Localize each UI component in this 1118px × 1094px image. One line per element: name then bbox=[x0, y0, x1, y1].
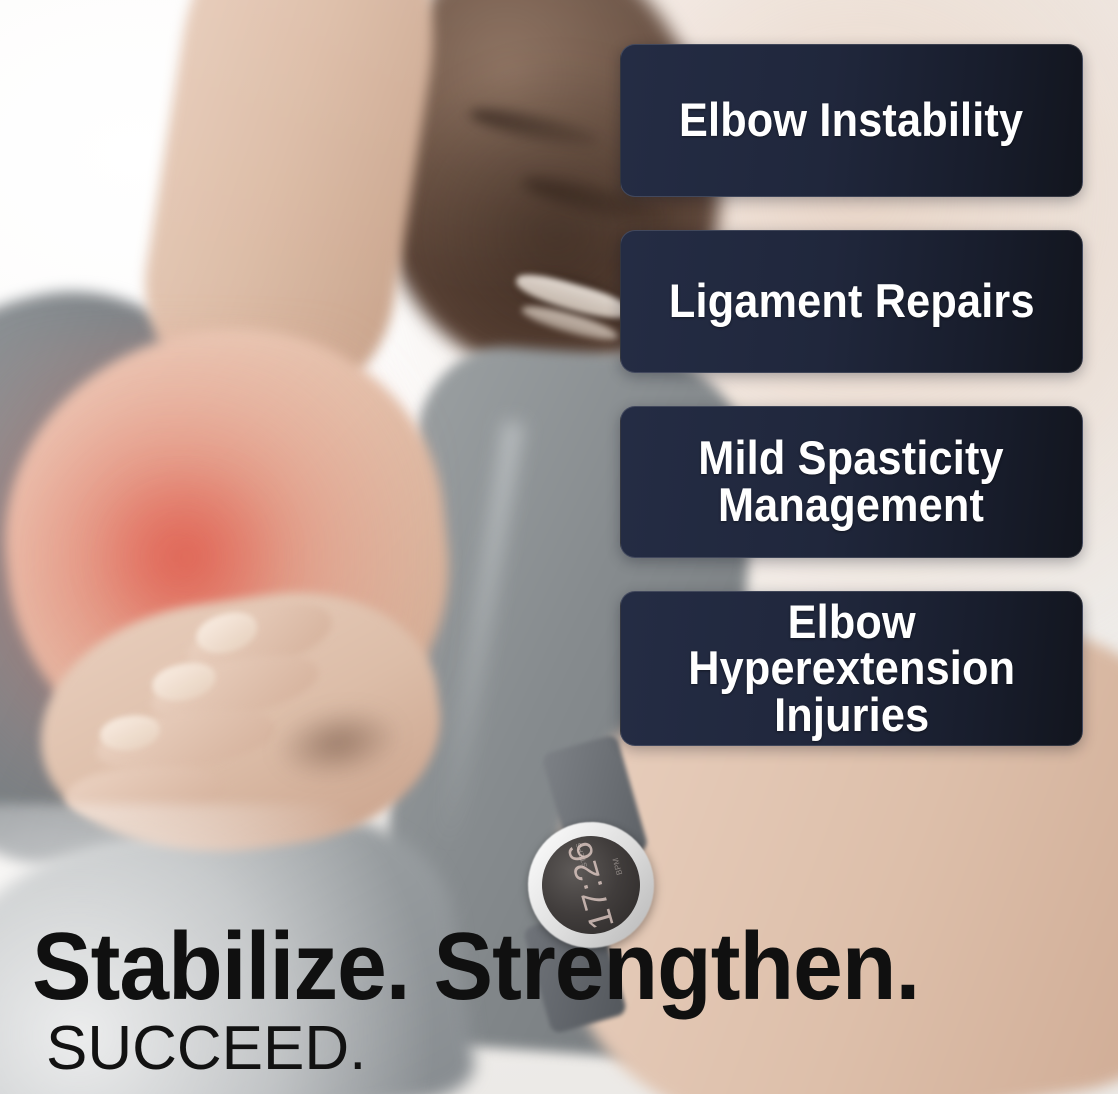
service-badge-list: Elbow Instability Ligament Repairs Mild … bbox=[620, 44, 1083, 746]
badge-label: Elbow Instability bbox=[679, 97, 1023, 144]
headline-block: Stabilize. Strengthen. SUCCEED. bbox=[32, 921, 1082, 1080]
badge-label: Ligament Repairs bbox=[669, 278, 1035, 325]
headline-secondary: SUCCEED. bbox=[46, 1018, 1082, 1080]
badge-ligament-repairs[interactable]: Ligament Repairs bbox=[620, 230, 1083, 373]
badge-elbow-hyperextension-injuries[interactable]: Elbow Hyperextension Injuries bbox=[620, 591, 1083, 746]
badge-label: Mild Spasticity Management bbox=[699, 435, 1005, 528]
promo-poster: STEPS BPM 17:26 Elbow Instability Ligame… bbox=[0, 0, 1118, 1094]
badge-mild-spasticity-management[interactable]: Mild Spasticity Management bbox=[620, 406, 1083, 558]
badge-elbow-instability[interactable]: Elbow Instability bbox=[620, 44, 1083, 197]
watch-mini-label: BPM bbox=[611, 857, 624, 876]
badge-label: Elbow Hyperextension Injuries bbox=[688, 599, 1015, 739]
headline-primary: Stabilize. Strengthen. bbox=[32, 921, 1009, 1012]
